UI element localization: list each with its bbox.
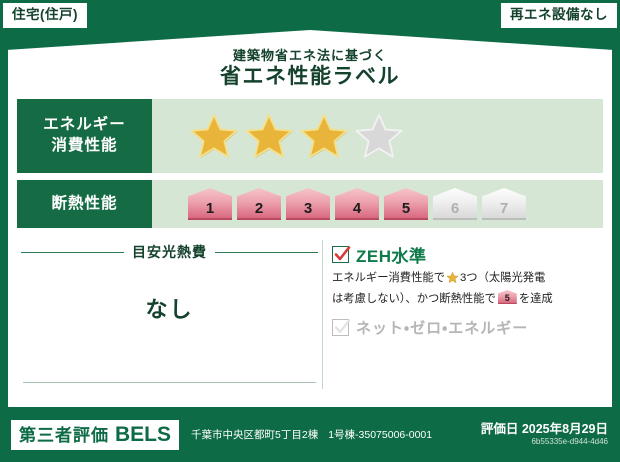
insulation-chip-7: 7 [482, 188, 526, 220]
inline-star-icon [446, 275, 459, 287]
insulation-chip-5: 5 [384, 188, 428, 220]
label-footer: 第三者評価 BELS 千葉市中央区都町5丁目2棟1号棟-35075006-000… [0, 407, 620, 462]
utility-cost-value: なし [17, 292, 322, 324]
net-zero-check-row[interactable]: ネット・ゼロ・エネルギー [332, 317, 599, 338]
label-body: エネルギー 消費性能 断熱性能 1234567 目安光熱費 なし [8, 90, 612, 407]
page-title: 省エネ性能ラベル [8, 64, 612, 92]
evaluation-date: 評価日 2025年8月29日 [481, 422, 608, 438]
utility-cost-bottom-rule [23, 382, 316, 383]
zeh-desc-stars: 3つ（太陽光発電 [460, 272, 545, 284]
insulation-label-text: 断熱性能 [51, 194, 117, 215]
insulation-performance-label: 断熱性能 [17, 180, 152, 228]
utility-cost-heading-text: 目安光熱費 [132, 242, 207, 262]
insulation-chip-3: 3 [286, 188, 330, 220]
heading-rule-right [215, 252, 318, 253]
insulation-chip-4: 4 [335, 188, 379, 220]
insulation-chip-1: 1 [188, 188, 232, 220]
footer-address: 千葉市中央区都町5丁目2棟1号棟-35075006-0001 [191, 427, 432, 442]
chip-number: 1 [206, 200, 214, 217]
insulation-scale: 1234567 [152, 180, 603, 228]
star-filled-icon [243, 110, 295, 162]
header-subtitle: 建築物省エネ法に基づく [8, 49, 612, 63]
chip-number: 4 [353, 200, 361, 217]
heading-rule-left [21, 252, 124, 253]
energy-label-line2: 消費性能 [51, 136, 117, 157]
zeh-desc-part3: を達成 [519, 293, 553, 305]
zeh-checkbox[interactable] [332, 246, 349, 263]
bels-badge-en: BELS [115, 424, 171, 445]
energy-label-line1: エネルギー [43, 115, 126, 136]
evaluation-date-label: 評価日 [481, 422, 519, 436]
energy-performance-label: エネルギー 消費性能 [17, 99, 152, 173]
address-text: 千葉市中央区都町5丁目2棟 [191, 429, 318, 441]
renewable-equipment-tag: 再エネ設備なし [501, 3, 617, 28]
bels-badge-jp: 第三者評価 [19, 427, 109, 444]
net-zero-title: ネット・ゼロ・エネルギー [356, 317, 528, 338]
chip-number: 6 [451, 200, 459, 217]
zeh-desc-part1: エネルギー消費性能で [332, 272, 445, 284]
star-empty-icon [353, 110, 405, 162]
standards-panel: ZEH水準 エネルギー消費性能で3つ（太陽光発電 は考慮しない）、かつ断熱性能で… [322, 236, 603, 399]
energy-performance-row: エネルギー 消費性能 [17, 99, 603, 173]
net-zero-checkbox[interactable] [332, 319, 349, 336]
inline-insulation-chip-icon: 5 [498, 290, 517, 304]
label-header: 建築物省エネ法に基づく 省エネ性能ラベル [8, 49, 612, 92]
chip-number: 2 [255, 200, 263, 217]
zeh-desc-part2: は考慮しない）、かつ断熱性能で [332, 293, 496, 305]
zeh-check-row[interactable]: ZEH水準 [332, 242, 599, 267]
chip-number: 5 [402, 200, 410, 217]
building-id: 1号棟-35075006-0001 [328, 429, 432, 441]
inline-chip-number: 5 [498, 290, 517, 304]
zeh-description: エネルギー消費性能で3つ（太陽光発電 は考慮しない）、かつ断熱性能で5を達成 [332, 270, 599, 308]
energy-star-rating [152, 99, 603, 173]
utility-cost-panel: 目安光熱費 なし [17, 236, 322, 399]
star-filled-icon [188, 110, 240, 162]
chip-number: 3 [304, 200, 312, 217]
insulation-chip-6: 6 [433, 188, 477, 220]
insulation-performance-row: 断熱性能 1234567 [17, 180, 603, 228]
panel-divider [322, 240, 323, 389]
housing-type-tag: 住宅(住戸) [3, 3, 87, 28]
energy-performance-label: 住宅(住戸) 再エネ設備なし 建築物省エネ法に基づく 省エネ性能ラベル エネルギ… [0, 0, 620, 462]
insulation-chip-2: 2 [237, 188, 281, 220]
footer-evaluation-info: 評価日 2025年8月29日 6b55335e-d944-4d46 [481, 422, 608, 448]
star-filled-icon [298, 110, 350, 162]
bels-badge: 第三者評価 BELS [11, 420, 179, 450]
lower-section: 目安光熱費 なし ZEH水準 エネルギー消費性能で3つ [17, 236, 603, 399]
evaluation-date-value: 2025年8月29日 [522, 422, 608, 436]
label-roof: 建築物省エネ法に基づく 省エネ性能ラベル [8, 30, 612, 92]
utility-cost-heading: 目安光熱費 [17, 236, 322, 262]
zeh-title: ZEH水準 [356, 242, 427, 267]
evaluation-id: 6b55335e-d944-4d46 [481, 437, 608, 447]
chip-number: 7 [500, 200, 508, 217]
